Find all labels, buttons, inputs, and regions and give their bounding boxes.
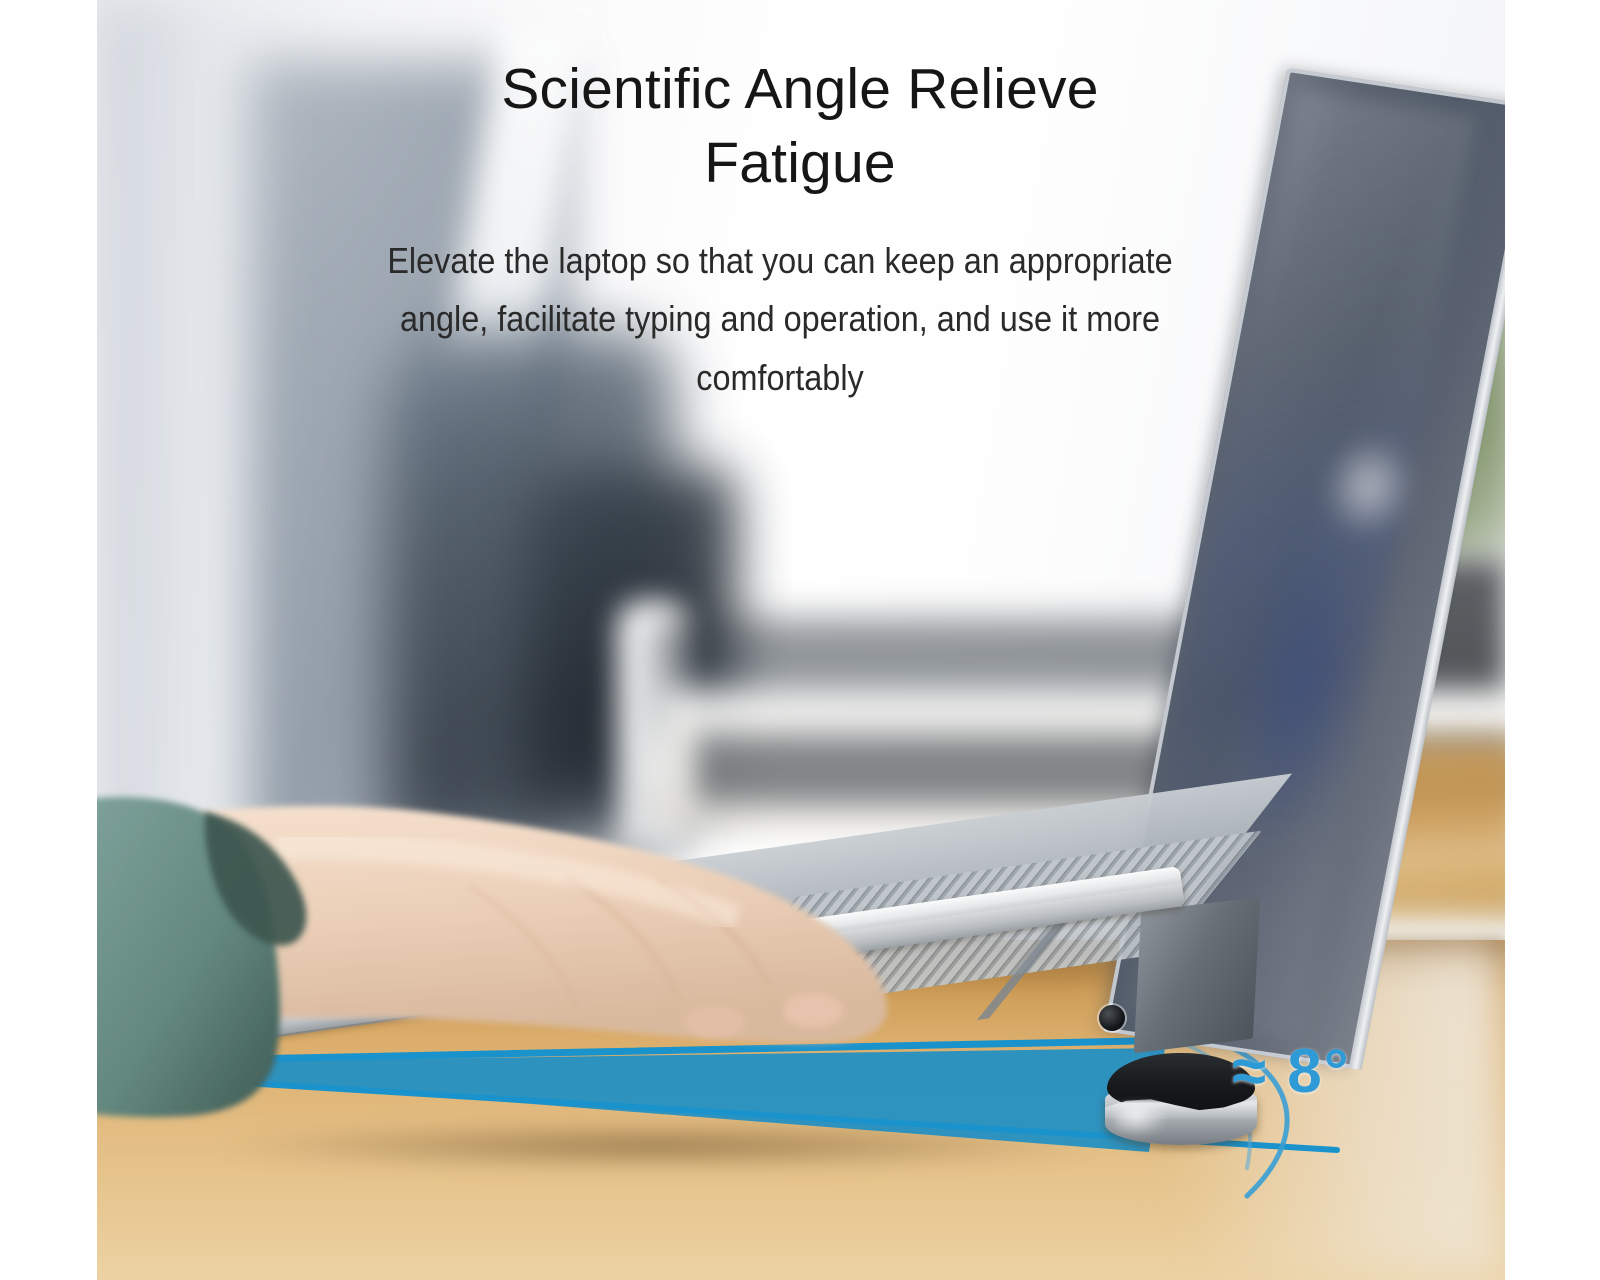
headline-line-1: Scientific Angle Relieve: [0, 52, 1600, 126]
product-marketing-image: Scientific Angle Relieve Fatigue Elevate…: [0, 0, 1600, 1280]
angle-annotation-label: ≈ 8°: [1232, 1036, 1351, 1107]
fingertip-2: [685, 1006, 745, 1038]
headline-line-2: Fatigue: [0, 126, 1600, 200]
body-copy: Elevate the laptop so that you can keep …: [348, 232, 1212, 407]
fingertip-1: [783, 993, 843, 1027]
page-title: Scientific Angle Relieve Fatigue: [0, 52, 1600, 200]
